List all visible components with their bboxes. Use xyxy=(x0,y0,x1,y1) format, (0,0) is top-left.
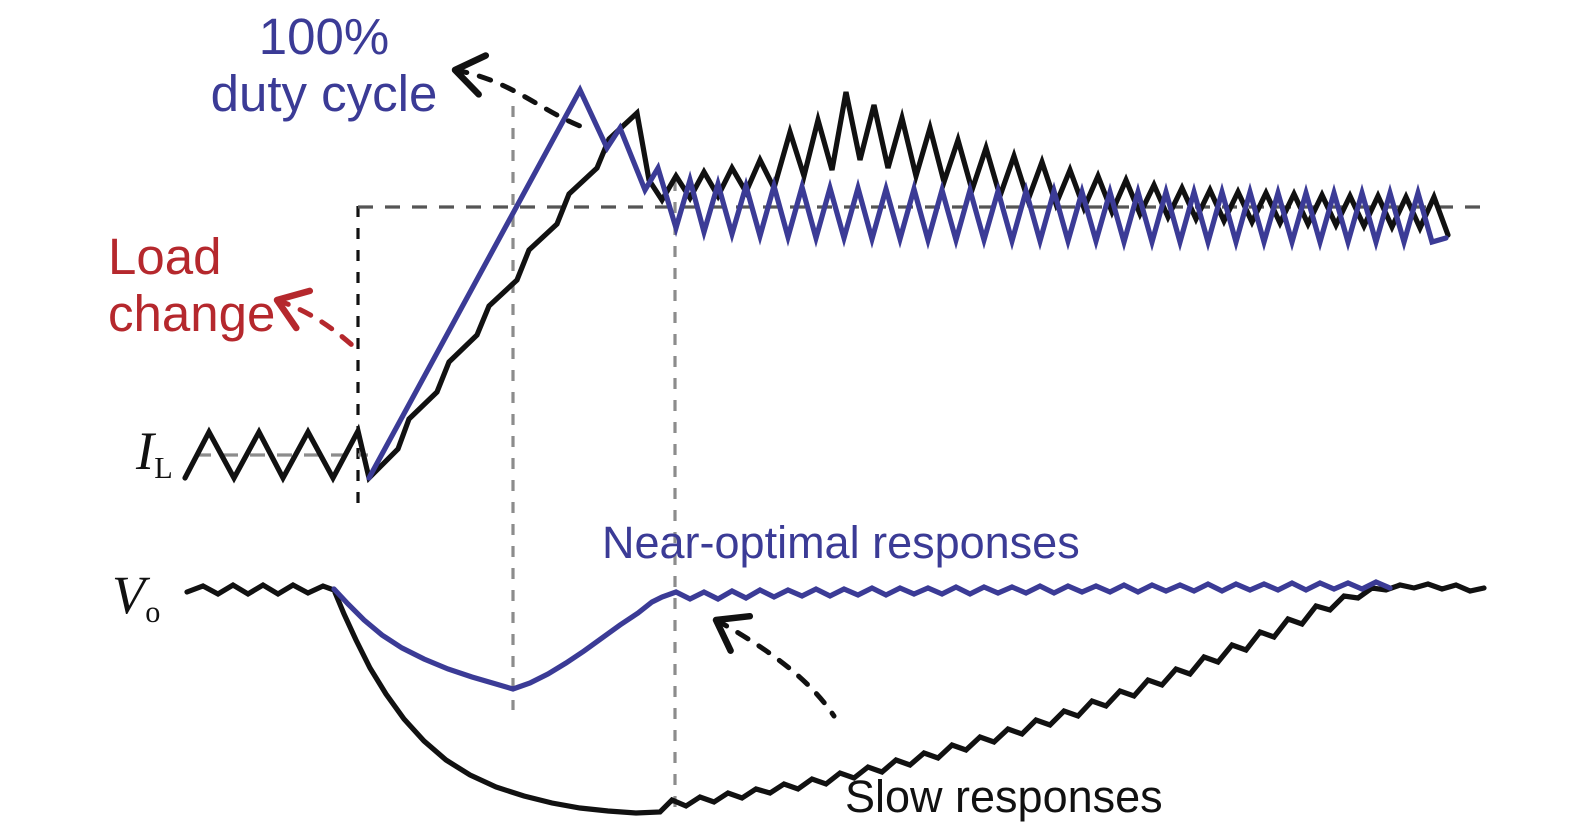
near-optimal-arrow-shaft xyxy=(716,620,834,716)
figure-canvas: 100% duty cycle Load change Near-optimal… xyxy=(0,0,1575,833)
axis-label-output-voltage: Vo xyxy=(112,564,160,626)
voltage-subscript: o xyxy=(145,595,160,629)
trace-output-voltage-near-optimal xyxy=(334,582,1390,689)
current-subscript: L xyxy=(154,451,172,485)
label-slow-responses: Slow responses xyxy=(845,772,1163,822)
waveform-svg xyxy=(0,0,1575,833)
voltage-symbol: V xyxy=(112,565,145,625)
waveform-traces xyxy=(185,90,1484,813)
axis-label-inductor-current: IL xyxy=(136,420,172,482)
trace-inductor-current-slow xyxy=(185,92,1448,478)
label-near-optimal-responses: Near-optimal responses xyxy=(602,518,1080,568)
label-load-change: Load change xyxy=(108,228,308,342)
duty-cycle-arrow-shaft xyxy=(455,70,580,126)
trace-output-voltage-slow xyxy=(187,584,1484,813)
near-optimal-arrow-head xyxy=(716,616,750,651)
current-symbol: I xyxy=(136,421,154,481)
label-duty-cycle: 100% duty cycle xyxy=(194,8,454,122)
